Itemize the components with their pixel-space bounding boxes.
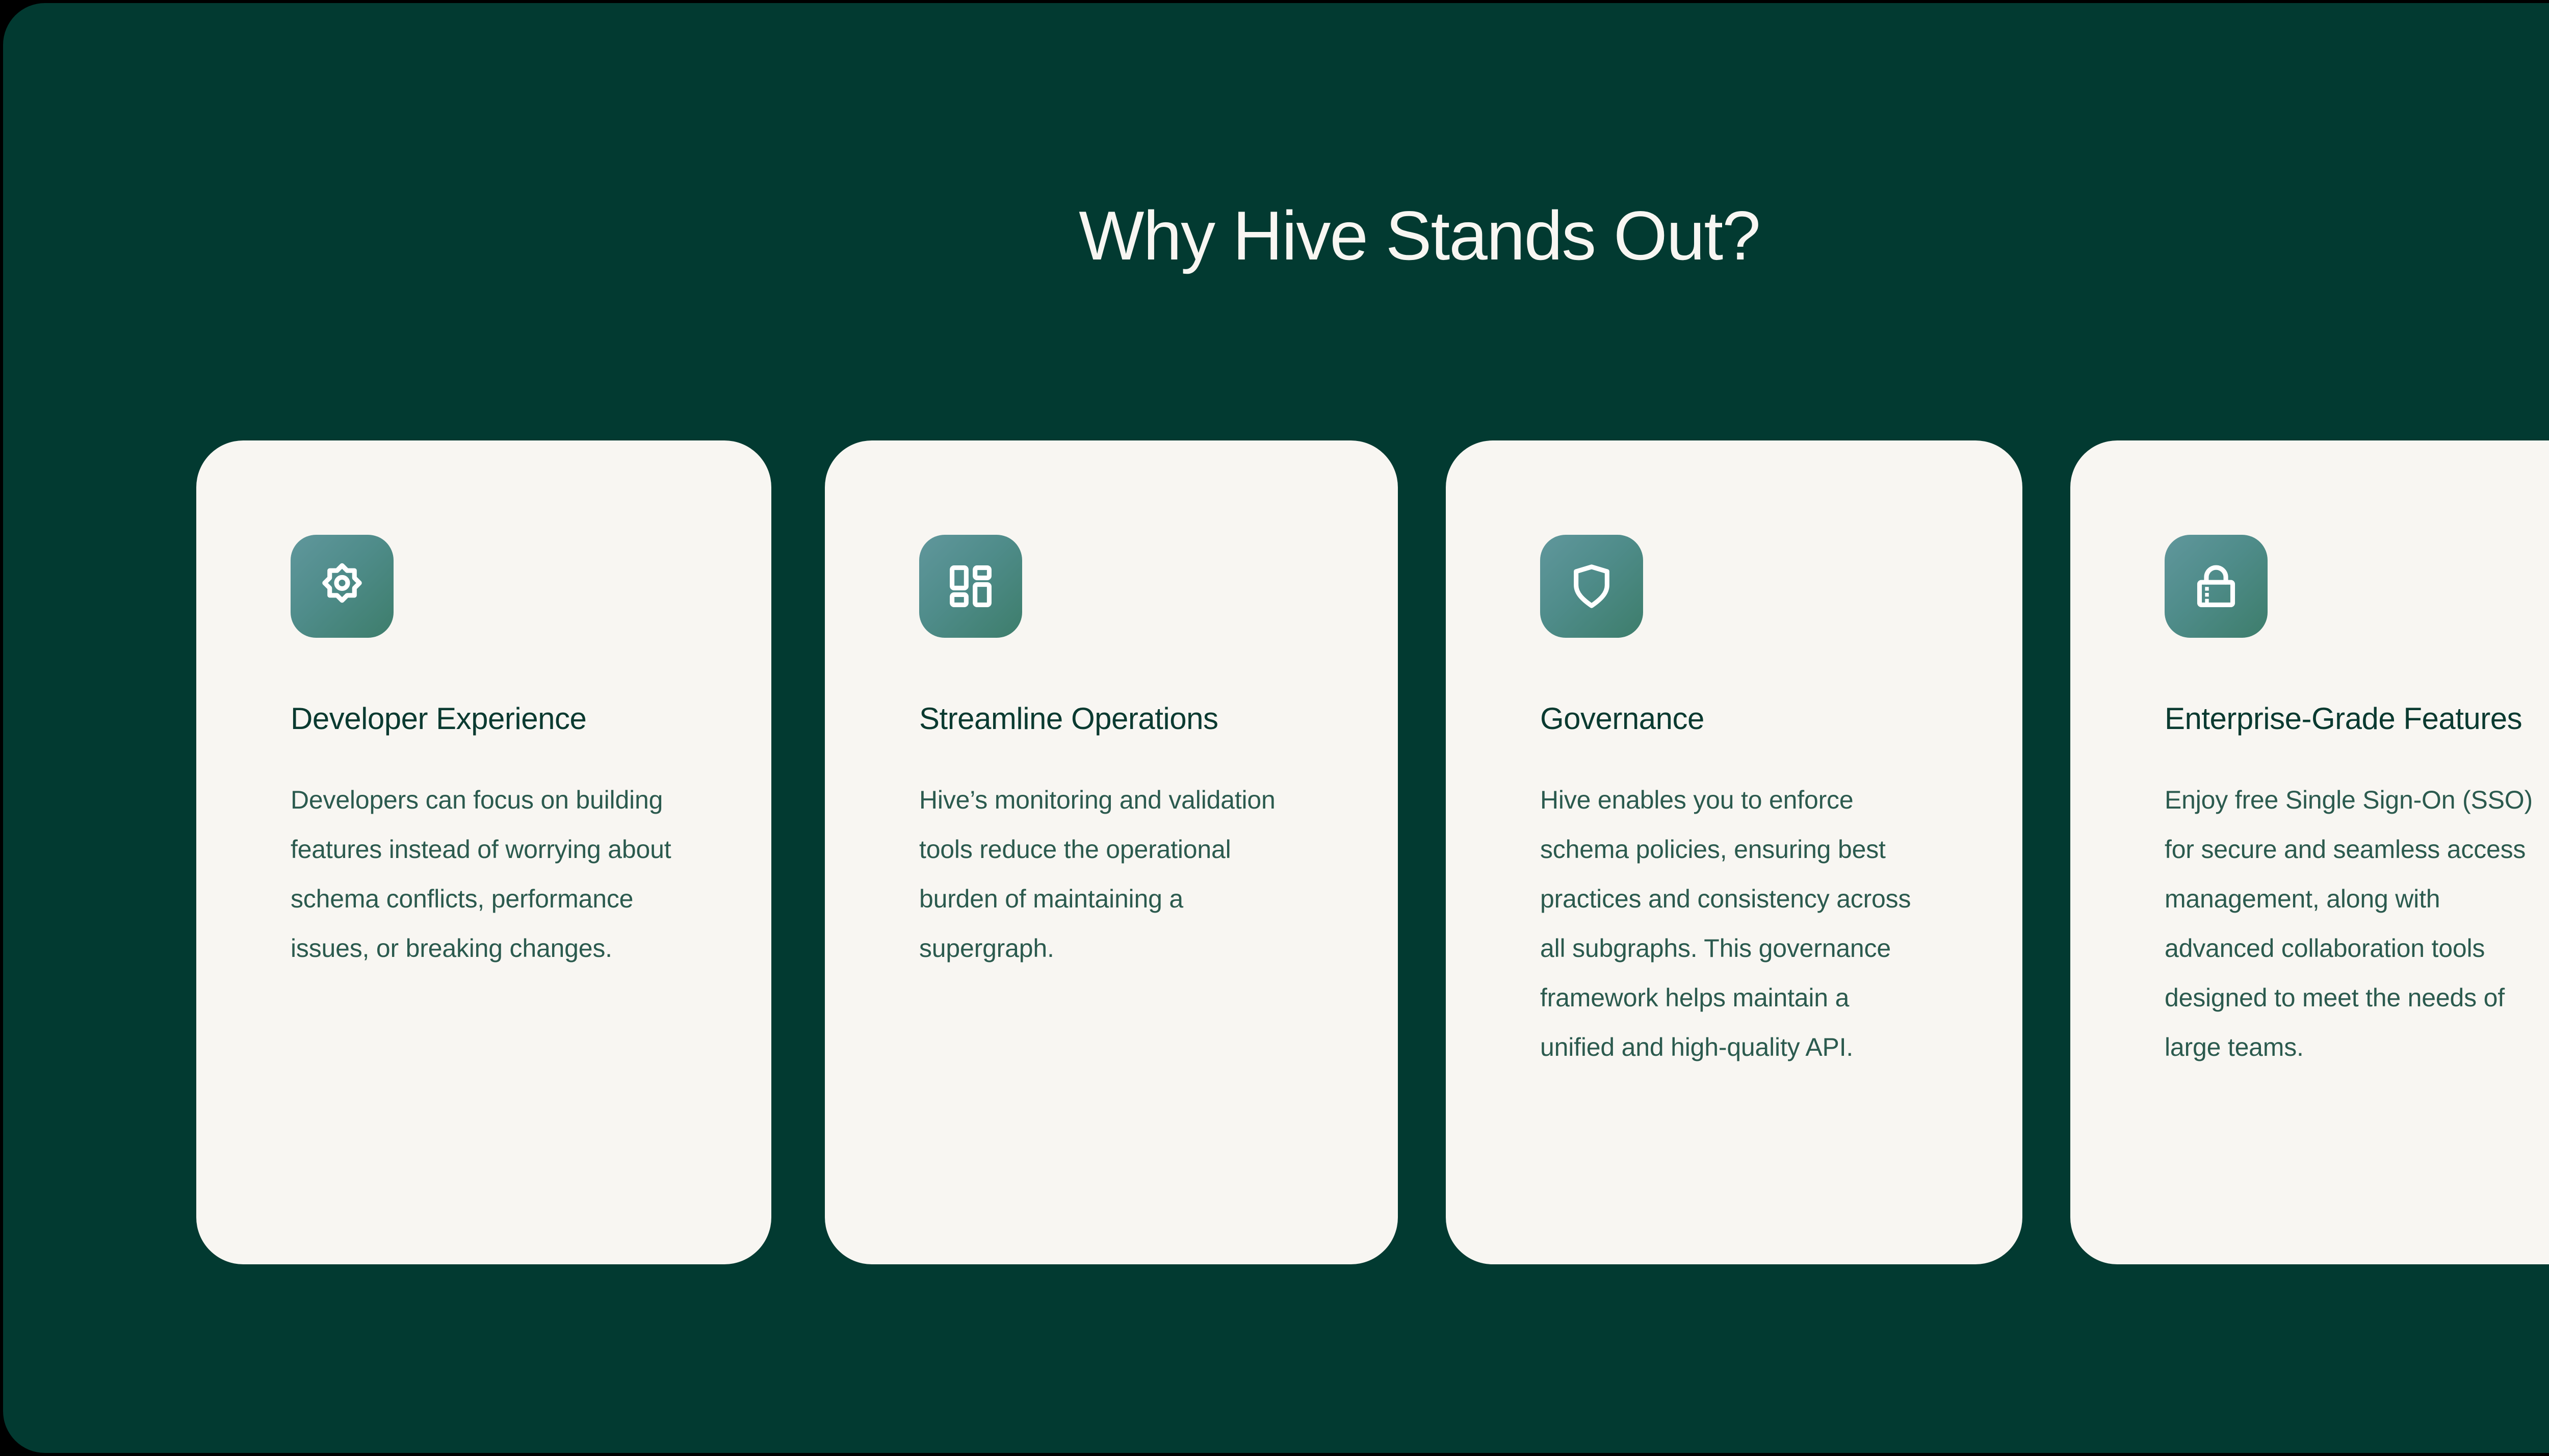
feature-card-enterprise-grade-features[interactable]: Enterprise-Grade Features Enjoy free Sin…	[2070, 440, 2549, 1264]
feature-card-streamline-operations[interactable]: Streamline Operations Hive’s monitoring …	[825, 440, 1398, 1264]
page-title: Why Hive Stands Out?	[3, 193, 2549, 278]
feature-card-grid: Developer Experience Developers can focu…	[196, 440, 2549, 1266]
shield-icon	[1540, 535, 1643, 638]
feature-card-body: Hive enables you to enforce schema polic…	[1540, 775, 1917, 1072]
lock-icon	[2165, 535, 2268, 638]
feature-card-governance[interactable]: Governance Hive enables you to enforce s…	[1446, 440, 2022, 1264]
feature-card-title: Enterprise-Grade Features	[2165, 698, 2549, 740]
feature-card-title: Developer Experience	[291, 698, 678, 740]
layout-grid-icon	[919, 535, 1022, 638]
feature-card-body: Hive’s monitoring and validation tools r…	[919, 775, 1306, 973]
page-root: Why Hive Stands Out? Developer Experienc…	[0, 0, 2549, 1456]
feature-card-title: Streamline Operations	[919, 698, 1306, 740]
feature-card-body: Developers can focus on building feature…	[291, 775, 678, 973]
features-section: Why Hive Stands Out? Developer Experienc…	[3, 3, 2549, 1453]
feature-card-developer-experience[interactable]: Developer Experience Developers can focu…	[196, 440, 771, 1264]
gear-icon	[291, 535, 394, 638]
feature-card-title: Governance	[1540, 698, 1928, 740]
feature-card-body: Enjoy free Single Sign-On (SSO) for secu…	[2165, 775, 2549, 1072]
